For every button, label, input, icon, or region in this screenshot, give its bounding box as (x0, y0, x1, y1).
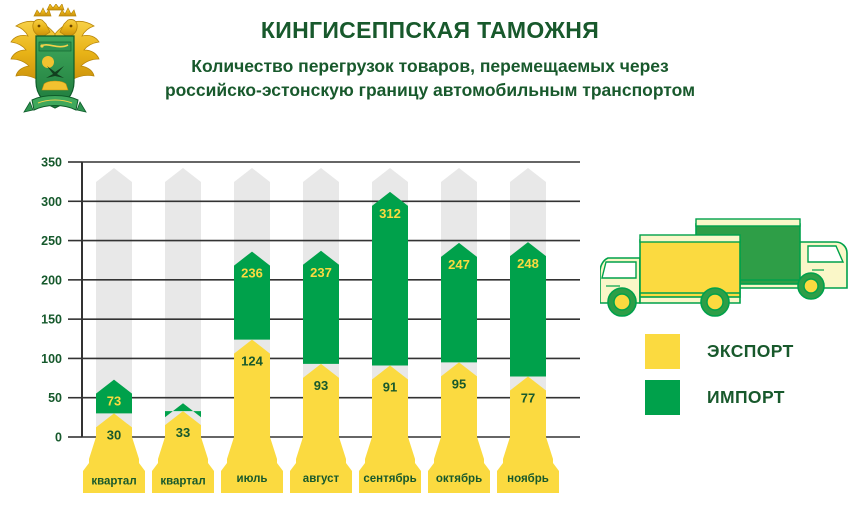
header-text-block: КИНГИСЕППСКАЯ ТАМОЖНЯ Количество перегру… (110, 16, 750, 102)
legend-swatch-export (645, 334, 680, 369)
bar-value-export: 77 (521, 391, 535, 406)
bar-value-export: 124 (241, 354, 263, 369)
chart-canvas: 050100150200250300350 IкварталIIквартали… (0, 150, 600, 506)
y-axis-tick-label: 350 (41, 156, 62, 170)
russian-customs-emblem-icon (6, 4, 104, 124)
y-axis-tick-label: 200 (41, 273, 62, 287)
page-subtitle-line-2: российско-эстонскую границу автомобильны… (110, 78, 750, 102)
bar-value-export: 30 (107, 427, 121, 442)
chart-legend: ЭКСПОРТ ИМПОРТ (645, 328, 794, 420)
front-yellow-truck (600, 235, 740, 316)
legend-swatch-import (645, 380, 680, 415)
y-axis-tick-labels: 050100150200250300350 (41, 156, 62, 445)
bar-value-export: 93 (314, 378, 328, 393)
y-axis-tick-label: 250 (41, 234, 62, 248)
page-title: КИНГИСЕППСКАЯ ТАМОЖНЯ (110, 16, 750, 44)
bar-value-import: 247 (448, 257, 470, 272)
page-subtitle-line-1: Количество перегрузок товаров, перемещае… (110, 54, 750, 78)
bar-value-import: 248 (517, 256, 539, 271)
y-axis-tick-label: 50 (48, 391, 62, 405)
bar-value-export: 33 (176, 425, 190, 440)
legend-label-export: ЭКСПОРТ (707, 341, 794, 362)
legend-and-illustration-panel: ЭКСПОРТ ИМПОРТ (600, 200, 866, 430)
bar-value-export: 91 (383, 380, 397, 395)
x-axis-label-text: ноябрь (507, 473, 549, 485)
y-axis-tick-label: 150 (41, 313, 62, 327)
bar-value-import: 312 (379, 206, 401, 221)
two-cargo-trucks-illustration (600, 200, 866, 325)
bar-chart: 050100150200250300350 IкварталIIквартали… (0, 150, 600, 506)
legend-item-export[interactable]: ЭКСПОРТ (645, 328, 794, 374)
x-axis-label-text: октябрь (436, 473, 482, 485)
legend-label-import: ИМПОРТ (707, 387, 785, 408)
bar-value-import: 237 (310, 265, 332, 280)
x-axis-label-text: июль (237, 473, 268, 485)
page-subtitle: Количество перегрузок товаров, перемещае… (110, 54, 750, 102)
legend-item-import[interactable]: ИМПОРТ (645, 374, 794, 420)
x-axis-label-text: квартал (160, 476, 205, 488)
x-axis-label-text: август (303, 473, 340, 485)
chart-background-bar (165, 168, 201, 437)
y-axis-tick-label: 100 (41, 352, 62, 366)
x-axis-label-text: квартал (91, 476, 136, 488)
y-axis-tick-label: 0 (55, 431, 62, 445)
x-axis-label-text: сентябрь (363, 473, 416, 485)
bar-value-export: 95 (452, 376, 466, 391)
bar-value-import: 236 (241, 266, 263, 281)
infographic-page: КИНГИСЕППСКАЯ ТАМОЖНЯ Количество перегру… (0, 0, 866, 506)
y-axis-tick-label: 300 (41, 195, 62, 209)
y-axis-tick-marks (68, 162, 82, 437)
bar-value-import: 73 (107, 394, 121, 409)
